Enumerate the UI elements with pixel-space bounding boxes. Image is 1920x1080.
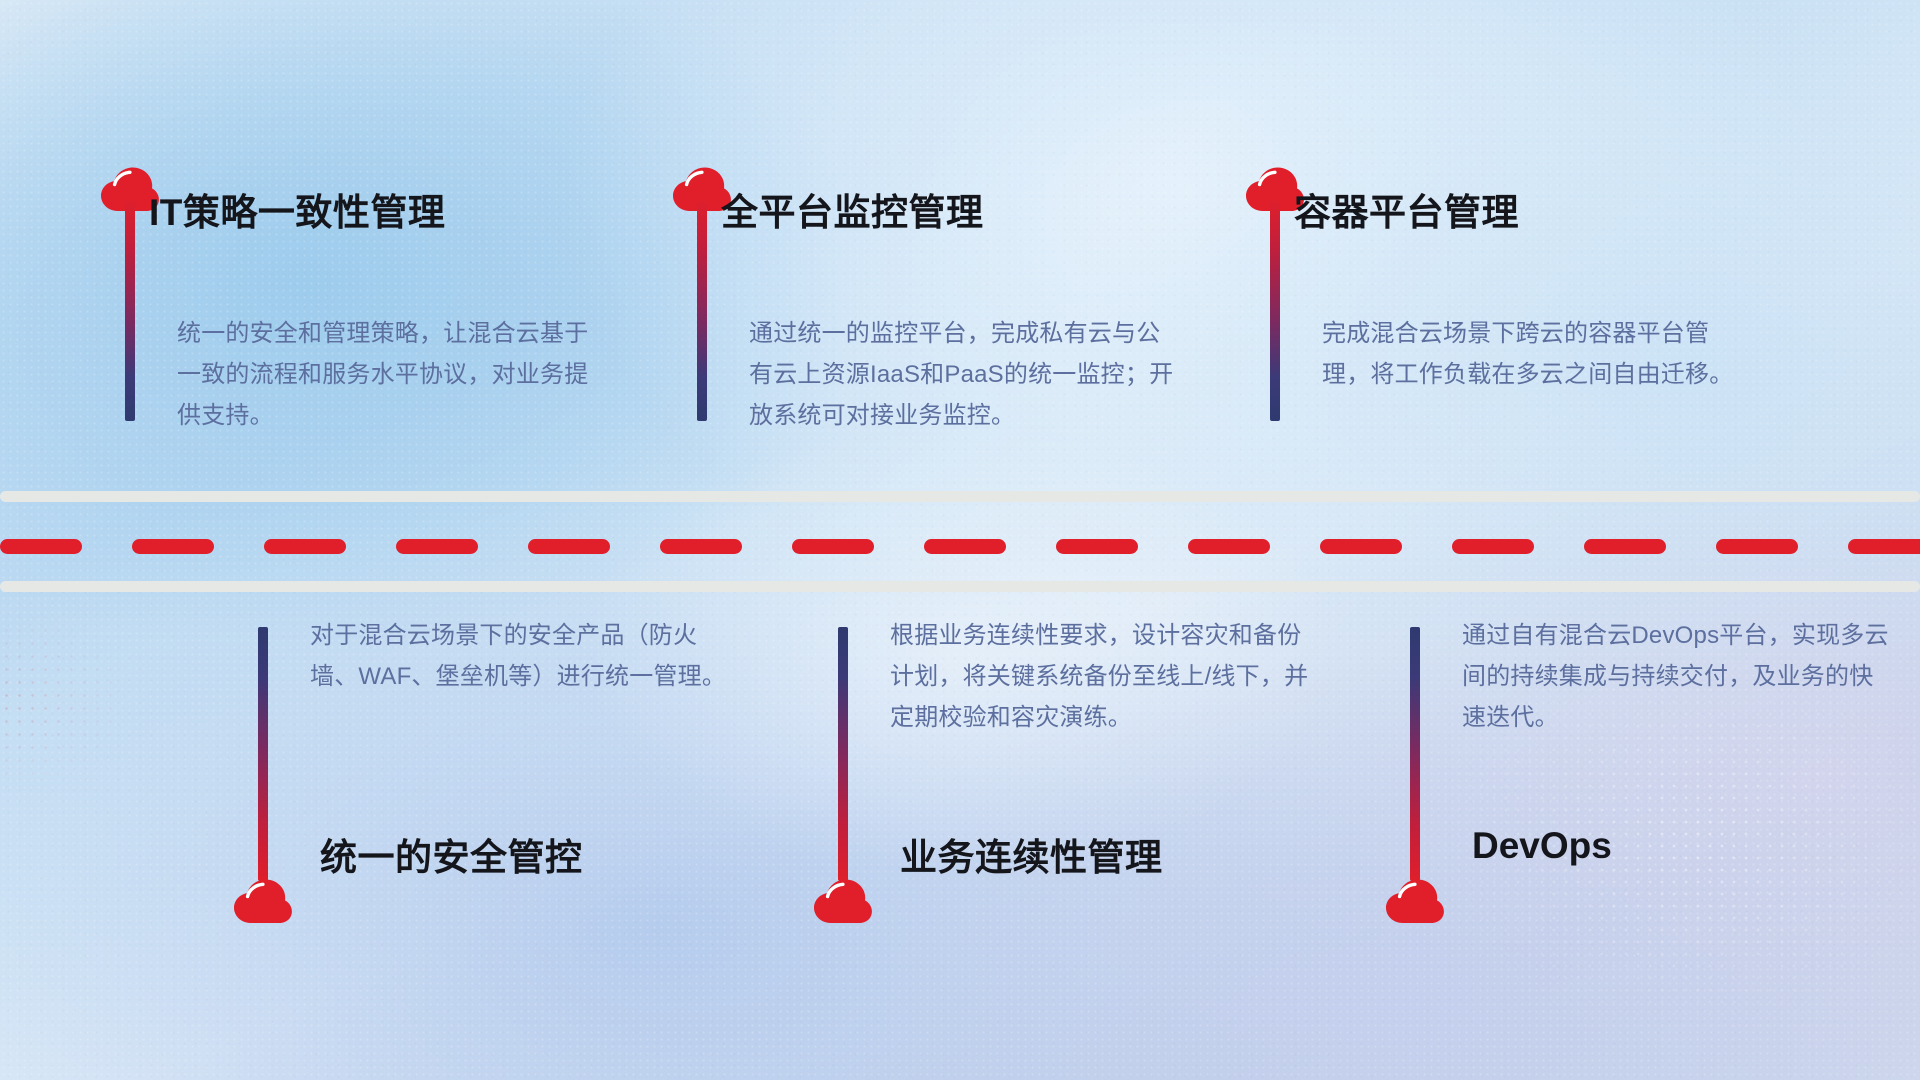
card-heading: 全平台监控管理 bbox=[721, 182, 984, 236]
road-edge-top bbox=[0, 491, 1920, 502]
pin-stem bbox=[125, 199, 135, 421]
road-center-dashes bbox=[0, 539, 1920, 554]
card-heading: 统一的安全管控 bbox=[320, 827, 583, 881]
cloud-pin-icon bbox=[1384, 877, 1446, 925]
road-dash bbox=[1056, 539, 1138, 554]
pin-stem bbox=[1410, 627, 1420, 881]
road-dash bbox=[660, 539, 742, 554]
card-heading: DevOps bbox=[1472, 825, 1612, 867]
pin-stem bbox=[258, 627, 268, 881]
pin-stem bbox=[697, 199, 707, 421]
road-dash bbox=[528, 539, 610, 554]
infographic-canvas: IT策略一致性管理 统一的安全和管理策略，让混合云基于一致的流程和服务水平协议，… bbox=[0, 0, 1920, 1080]
road-dash bbox=[1584, 539, 1666, 554]
cloud-pin-icon bbox=[232, 877, 294, 925]
card-body: 统一的安全和管理策略，让混合云基于一致的流程和服务水平协议，对业务提供支持。 bbox=[177, 313, 609, 436]
pin-stem bbox=[838, 627, 848, 881]
road-dash bbox=[1188, 539, 1270, 554]
road-dash bbox=[792, 539, 874, 554]
card-heading: 容器平台管理 bbox=[1294, 182, 1519, 236]
card-heading: 业务连续性管理 bbox=[900, 827, 1163, 881]
card-body: 根据业务连续性要求，设计容灾和备份计划，将关键系统备份至线上/线下，并定期校验和… bbox=[890, 615, 1322, 738]
card-body: 完成混合云场景下跨云的容器平台管理，将工作负载在多云之间自由迁移。 bbox=[1322, 313, 1754, 395]
road-dash bbox=[396, 539, 478, 554]
road-dash bbox=[1452, 539, 1534, 554]
road-dash bbox=[1320, 539, 1402, 554]
road-dash bbox=[924, 539, 1006, 554]
road-dash bbox=[264, 539, 346, 554]
pin-stem bbox=[1270, 199, 1280, 421]
road-dash bbox=[132, 539, 214, 554]
road-dash bbox=[1848, 539, 1920, 554]
card-heading: IT策略一致性管理 bbox=[149, 182, 445, 236]
card-body: 通过自有混合云DevOps平台，实现多云间的持续集成与持续交付，及业务的快速迭代… bbox=[1462, 615, 1894, 738]
cloud-pin-icon bbox=[812, 877, 874, 925]
road-dash bbox=[0, 539, 82, 554]
card-body: 对于混合云场景下的安全产品（防火墙、WAF、堡垒机等）进行统一管理。 bbox=[310, 615, 742, 697]
road-edge-bottom bbox=[0, 581, 1920, 592]
card-body: 通过统一的监控平台，完成私有云与公有云上资源IaaS和PaaS的统一监控；开放系… bbox=[749, 313, 1181, 436]
road-dash bbox=[1716, 539, 1798, 554]
